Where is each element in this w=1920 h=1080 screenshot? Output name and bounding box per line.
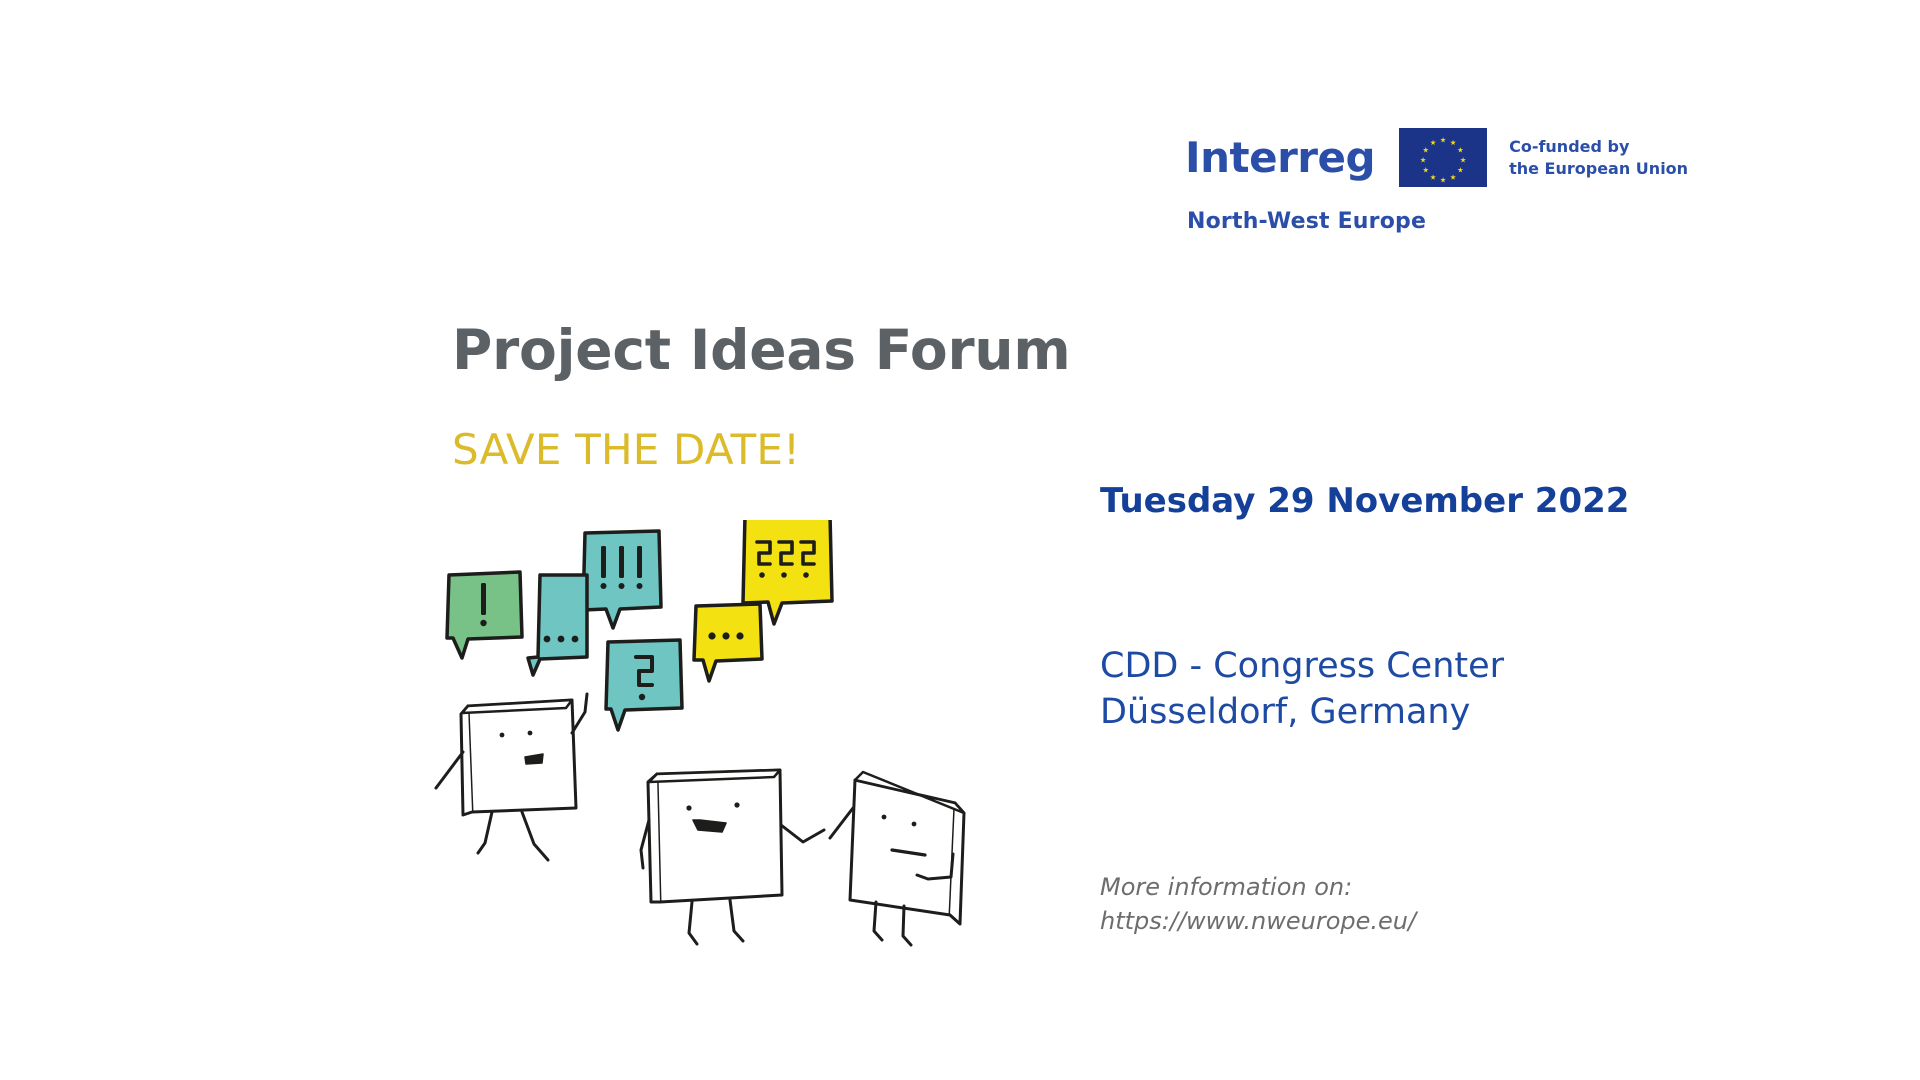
speech-bubble-teal-triple-exclamation <box>583 531 661 628</box>
more-information-url[interactable]: https://www.nweurope.eu/ <box>1100 904 1416 938</box>
eu-cofunding-line-2: the European Union <box>1509 158 1688 179</box>
event-venue-line-2: Düsseldorf, Germany <box>1100 689 1504 735</box>
speech-bubble-green-exclamation <box>447 572 522 658</box>
page-title: Project Ideas Forum <box>452 318 1070 382</box>
eu-cofunding-line-1: Co-funded by <box>1509 136 1688 157</box>
logo-top-row: Interreg Co-funded by the European Union <box>1185 128 1685 187</box>
event-venue-line-1: CDD - Congress Center <box>1100 643 1504 689</box>
programme-region-label: North-West Europe <box>1187 209 1685 234</box>
illustration-svg <box>430 520 1010 950</box>
interreg-wordmark: Interreg <box>1185 137 1399 179</box>
eu-flag-icon <box>1399 128 1487 187</box>
character-center <box>641 770 824 944</box>
speech-bubble-teal-question <box>606 640 682 730</box>
more-information: More information on: https://www.nweurop… <box>1100 870 1416 938</box>
slide-canvas: Interreg Co-funded by the European Union <box>0 0 1920 1080</box>
character-left <box>436 694 587 860</box>
speech-bubble-yellow-ellipsis <box>694 604 762 681</box>
character-right <box>830 772 964 945</box>
interreg-nwe-logo: Interreg Co-funded by the European Union <box>1185 128 1685 234</box>
event-venue: CDD - Congress Center Düsseldorf, German… <box>1100 643 1504 735</box>
eu-cofunding-statement: Co-funded by the European Union <box>1487 136 1688 178</box>
save-the-date-subtitle: SAVE THE DATE! <box>452 425 800 474</box>
event-date: Tuesday 29 November 2022 <box>1100 481 1629 521</box>
more-information-label: More information on: <box>1100 870 1416 904</box>
illustration-speech-bubble-characters <box>430 520 1010 950</box>
speech-bubble-teal-ellipsis <box>528 575 587 675</box>
